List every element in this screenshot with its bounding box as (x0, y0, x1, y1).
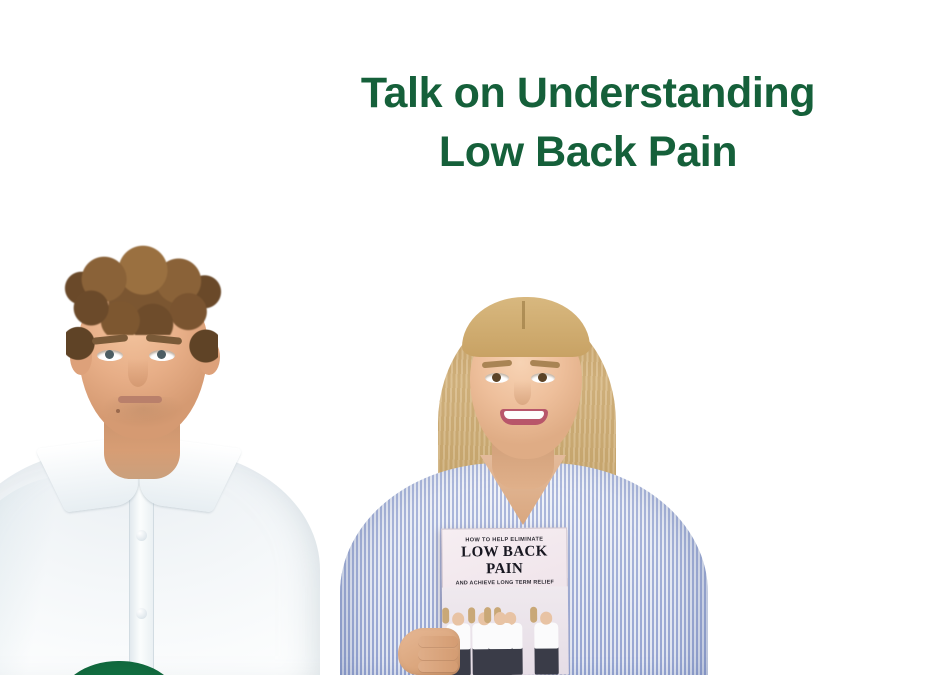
man-pupil-right (157, 350, 166, 359)
man-mole (116, 409, 120, 413)
book-title: LOW BACK PAIN (441, 543, 567, 578)
book-figure (534, 622, 559, 674)
man-shirt-button (136, 608, 147, 619)
man-portrait (0, 220, 322, 675)
woman-pupil-right (538, 373, 547, 382)
man-jaw (94, 397, 192, 437)
man-mouth (118, 396, 162, 403)
page-title-line1: Talk on Understanding (236, 72, 940, 115)
woman-nose (514, 381, 531, 405)
man-hair (62, 245, 224, 335)
woman-pupil-left (492, 373, 501, 382)
woman-teeth (504, 411, 544, 419)
book-cover-photo (442, 586, 569, 675)
woman-hair-top (462, 297, 590, 357)
book-cover: HOW TO HELP ELIMINATE LOW BACK PAIN AND … (441, 527, 569, 675)
man-pupil-left (105, 350, 114, 359)
promo-banner: HOW TO HELP ELIMINATE LOW BACK PAIN AND … (0, 0, 940, 675)
man-shirt-placket (130, 475, 153, 675)
woman-hand (398, 628, 460, 675)
book-figure (488, 619, 513, 675)
man-shirt-button (136, 530, 147, 541)
page-title-line2: Low Back Pain (236, 131, 940, 174)
page-title: Talk on Understanding Low Back Pain (0, 72, 940, 174)
woman-mouth (500, 409, 548, 425)
man-nose (128, 359, 148, 387)
